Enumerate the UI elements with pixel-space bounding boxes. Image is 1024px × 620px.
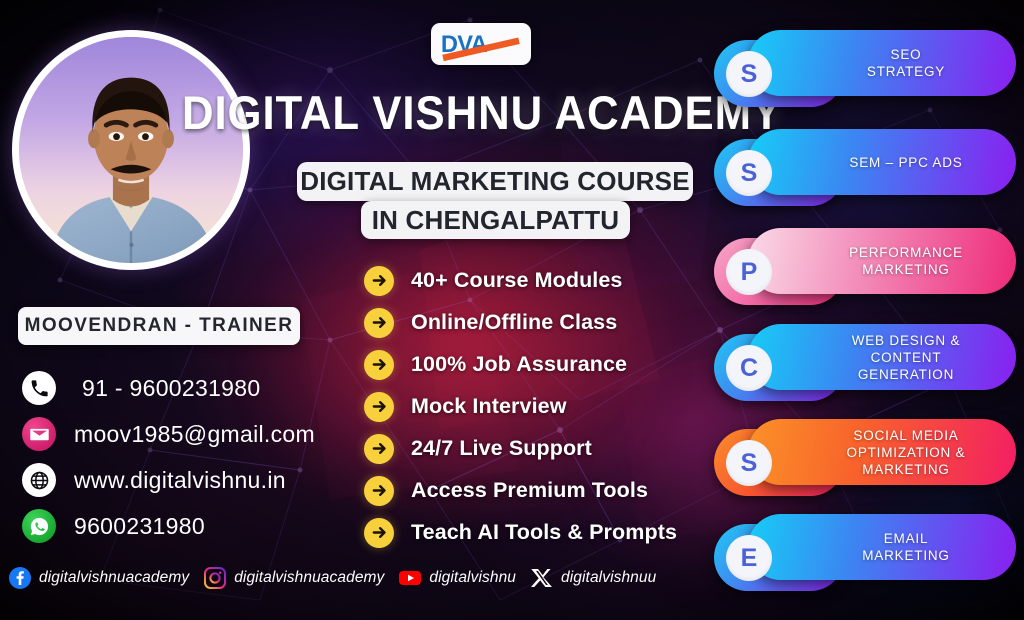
- service-label: PERFORMANCEMARKETING: [787, 244, 977, 278]
- globe-icon: [22, 463, 56, 497]
- service-badge-letter: E: [726, 535, 772, 581]
- contact-value: 9600231980: [74, 513, 205, 540]
- trainer-photo-frame: [12, 30, 250, 270]
- subtitle-line-1: DIGITAL MARKETING COURSE: [297, 162, 693, 201]
- page-title: DIGITAL VISHNU ACADEMY: [259, 84, 705, 140]
- contact-list: 91 - 9600231980 moov1985@gmail.com www.d…: [22, 365, 362, 549]
- facebook-icon: [8, 566, 32, 590]
- subtitle-line-2: IN CHENGALPATTU: [361, 201, 630, 239]
- service-badge-social-media-optimization-marketing[interactable]: SOCIAL MEDIAOPTIMIZATION &MARKETING S: [714, 417, 1016, 496]
- service-badge-pill: EMAILMARKETING: [748, 514, 1016, 580]
- social-instagram[interactable]: digitalvishnuacademy: [203, 566, 384, 590]
- contact-email[interactable]: moov1985@gmail.com: [22, 411, 362, 457]
- social-youtube[interactable]: digitalvishnu: [398, 566, 516, 590]
- arrow-right-icon: [364, 518, 394, 548]
- service-badge-letter: C: [726, 345, 772, 391]
- social-handle: digitalvishnuacademy: [39, 569, 189, 587]
- instagram-icon: [203, 566, 227, 590]
- service-badge-performance-marketing[interactable]: PERFORMANCEMARKETING P: [714, 226, 1016, 305]
- contact-website[interactable]: www.digitalvishnu.in: [22, 457, 362, 503]
- arrow-right-icon: [364, 350, 394, 380]
- feature-label: 40+ Course Modules: [411, 268, 623, 293]
- email-icon: [22, 417, 56, 451]
- whatsapp-icon: [22, 509, 56, 543]
- feature-label: 24/7 Live Support: [411, 436, 592, 461]
- service-badge-pill: SOCIAL MEDIAOPTIMIZATION &MARKETING: [748, 419, 1016, 485]
- service-label: SOCIAL MEDIAOPTIMIZATION &MARKETING: [785, 427, 980, 478]
- service-badge-pill: SEOSTRATEGY: [748, 30, 1016, 96]
- service-badge-sem-ppc-ads[interactable]: SEM – PPC ADS S: [714, 127, 1016, 206]
- arrow-right-icon: [364, 392, 394, 422]
- feature-label: Access Premium Tools: [411, 478, 648, 503]
- x-twitter-icon: [530, 566, 554, 590]
- list-item: Access Premium Tools: [364, 470, 714, 511]
- social-handle: digitalvishnu: [429, 569, 516, 587]
- list-item: 100% Job Assurance: [364, 344, 714, 385]
- service-badge-letter: S: [726, 51, 772, 97]
- social-x[interactable]: digitalvishnuu: [530, 566, 656, 590]
- service-badge-seo-strategy[interactable]: SEOSTRATEGY S: [714, 28, 1016, 107]
- dva-logo-mark: DVA DVA A: [438, 27, 524, 61]
- social-bar: digitalvishnuacademy digitalvishnuacadem…: [8, 566, 670, 590]
- trainer-photo: [19, 37, 243, 263]
- arrow-right-icon: [364, 476, 394, 506]
- service-label: SEOSTRATEGY: [805, 46, 959, 80]
- service-label: SEM – PPC ADS: [787, 154, 976, 171]
- contact-value: moov1985@gmail.com: [74, 421, 315, 448]
- feature-list: 40+ Course Modules Online/Offline Class …: [364, 260, 714, 554]
- service-badge-letter: S: [726, 440, 772, 486]
- contact-value: www.digitalvishnu.in: [74, 467, 286, 494]
- service-badge-web-design-content-generation[interactable]: WEB DESIGN &CONTENTGENERATION C: [714, 322, 1016, 401]
- service-label: EMAILMARKETING: [800, 530, 963, 564]
- youtube-icon: [398, 566, 422, 590]
- arrow-right-icon: [364, 266, 394, 296]
- social-facebook[interactable]: digitalvishnuacademy: [8, 566, 189, 590]
- service-badge-pill: WEB DESIGN &CONTENTGENERATION: [748, 324, 1016, 390]
- feature-label: Mock Interview: [411, 394, 567, 419]
- service-badge-email-marketing[interactable]: EMAILMARKETING E: [714, 512, 1016, 591]
- arrow-right-icon: [364, 308, 394, 338]
- list-item: Online/Offline Class: [364, 302, 714, 343]
- service-badge-pill: SEM – PPC ADS: [748, 129, 1016, 195]
- services-list: SEOSTRATEGY S SEM – PPC ADS S PERFORMANC…: [714, 28, 1016, 594]
- service-label: WEB DESIGN &CONTENTGENERATION: [790, 332, 975, 383]
- feature-label: Teach AI Tools & Prompts: [411, 520, 677, 545]
- trainer-portrait-illustration: [19, 37, 243, 263]
- trainer-name-badge: MOOVENDRAN - TRAINER: [18, 307, 300, 345]
- feature-label: Online/Offline Class: [411, 310, 617, 335]
- service-badge-letter: S: [726, 150, 772, 196]
- phone-icon: [22, 371, 56, 405]
- list-item: Mock Interview: [364, 386, 714, 427]
- list-item: 40+ Course Modules: [364, 260, 714, 301]
- contact-phone[interactable]: 91 - 9600231980: [22, 365, 362, 411]
- arrow-right-icon: [364, 434, 394, 464]
- social-handle: digitalvishnuu: [561, 569, 656, 587]
- contact-value: 91 - 9600231980: [82, 375, 260, 402]
- social-handle: digitalvishnuacademy: [234, 569, 384, 587]
- contact-whatsapp[interactable]: 9600231980: [22, 503, 362, 549]
- svg-text:DVA: DVA: [441, 32, 488, 58]
- service-badge-pill: PERFORMANCEMARKETING: [748, 228, 1016, 294]
- list-item: Teach AI Tools & Prompts: [364, 512, 714, 553]
- feature-label: 100% Job Assurance: [411, 352, 627, 377]
- flyer-canvas: DVA DVA A DIGITAL VISHNU ACADEMY DIGITAL…: [0, 0, 1024, 620]
- dva-logo: DVA DVA A: [431, 23, 531, 65]
- service-badge-letter: P: [726, 249, 772, 295]
- list-item: 24/7 Live Support: [364, 428, 714, 469]
